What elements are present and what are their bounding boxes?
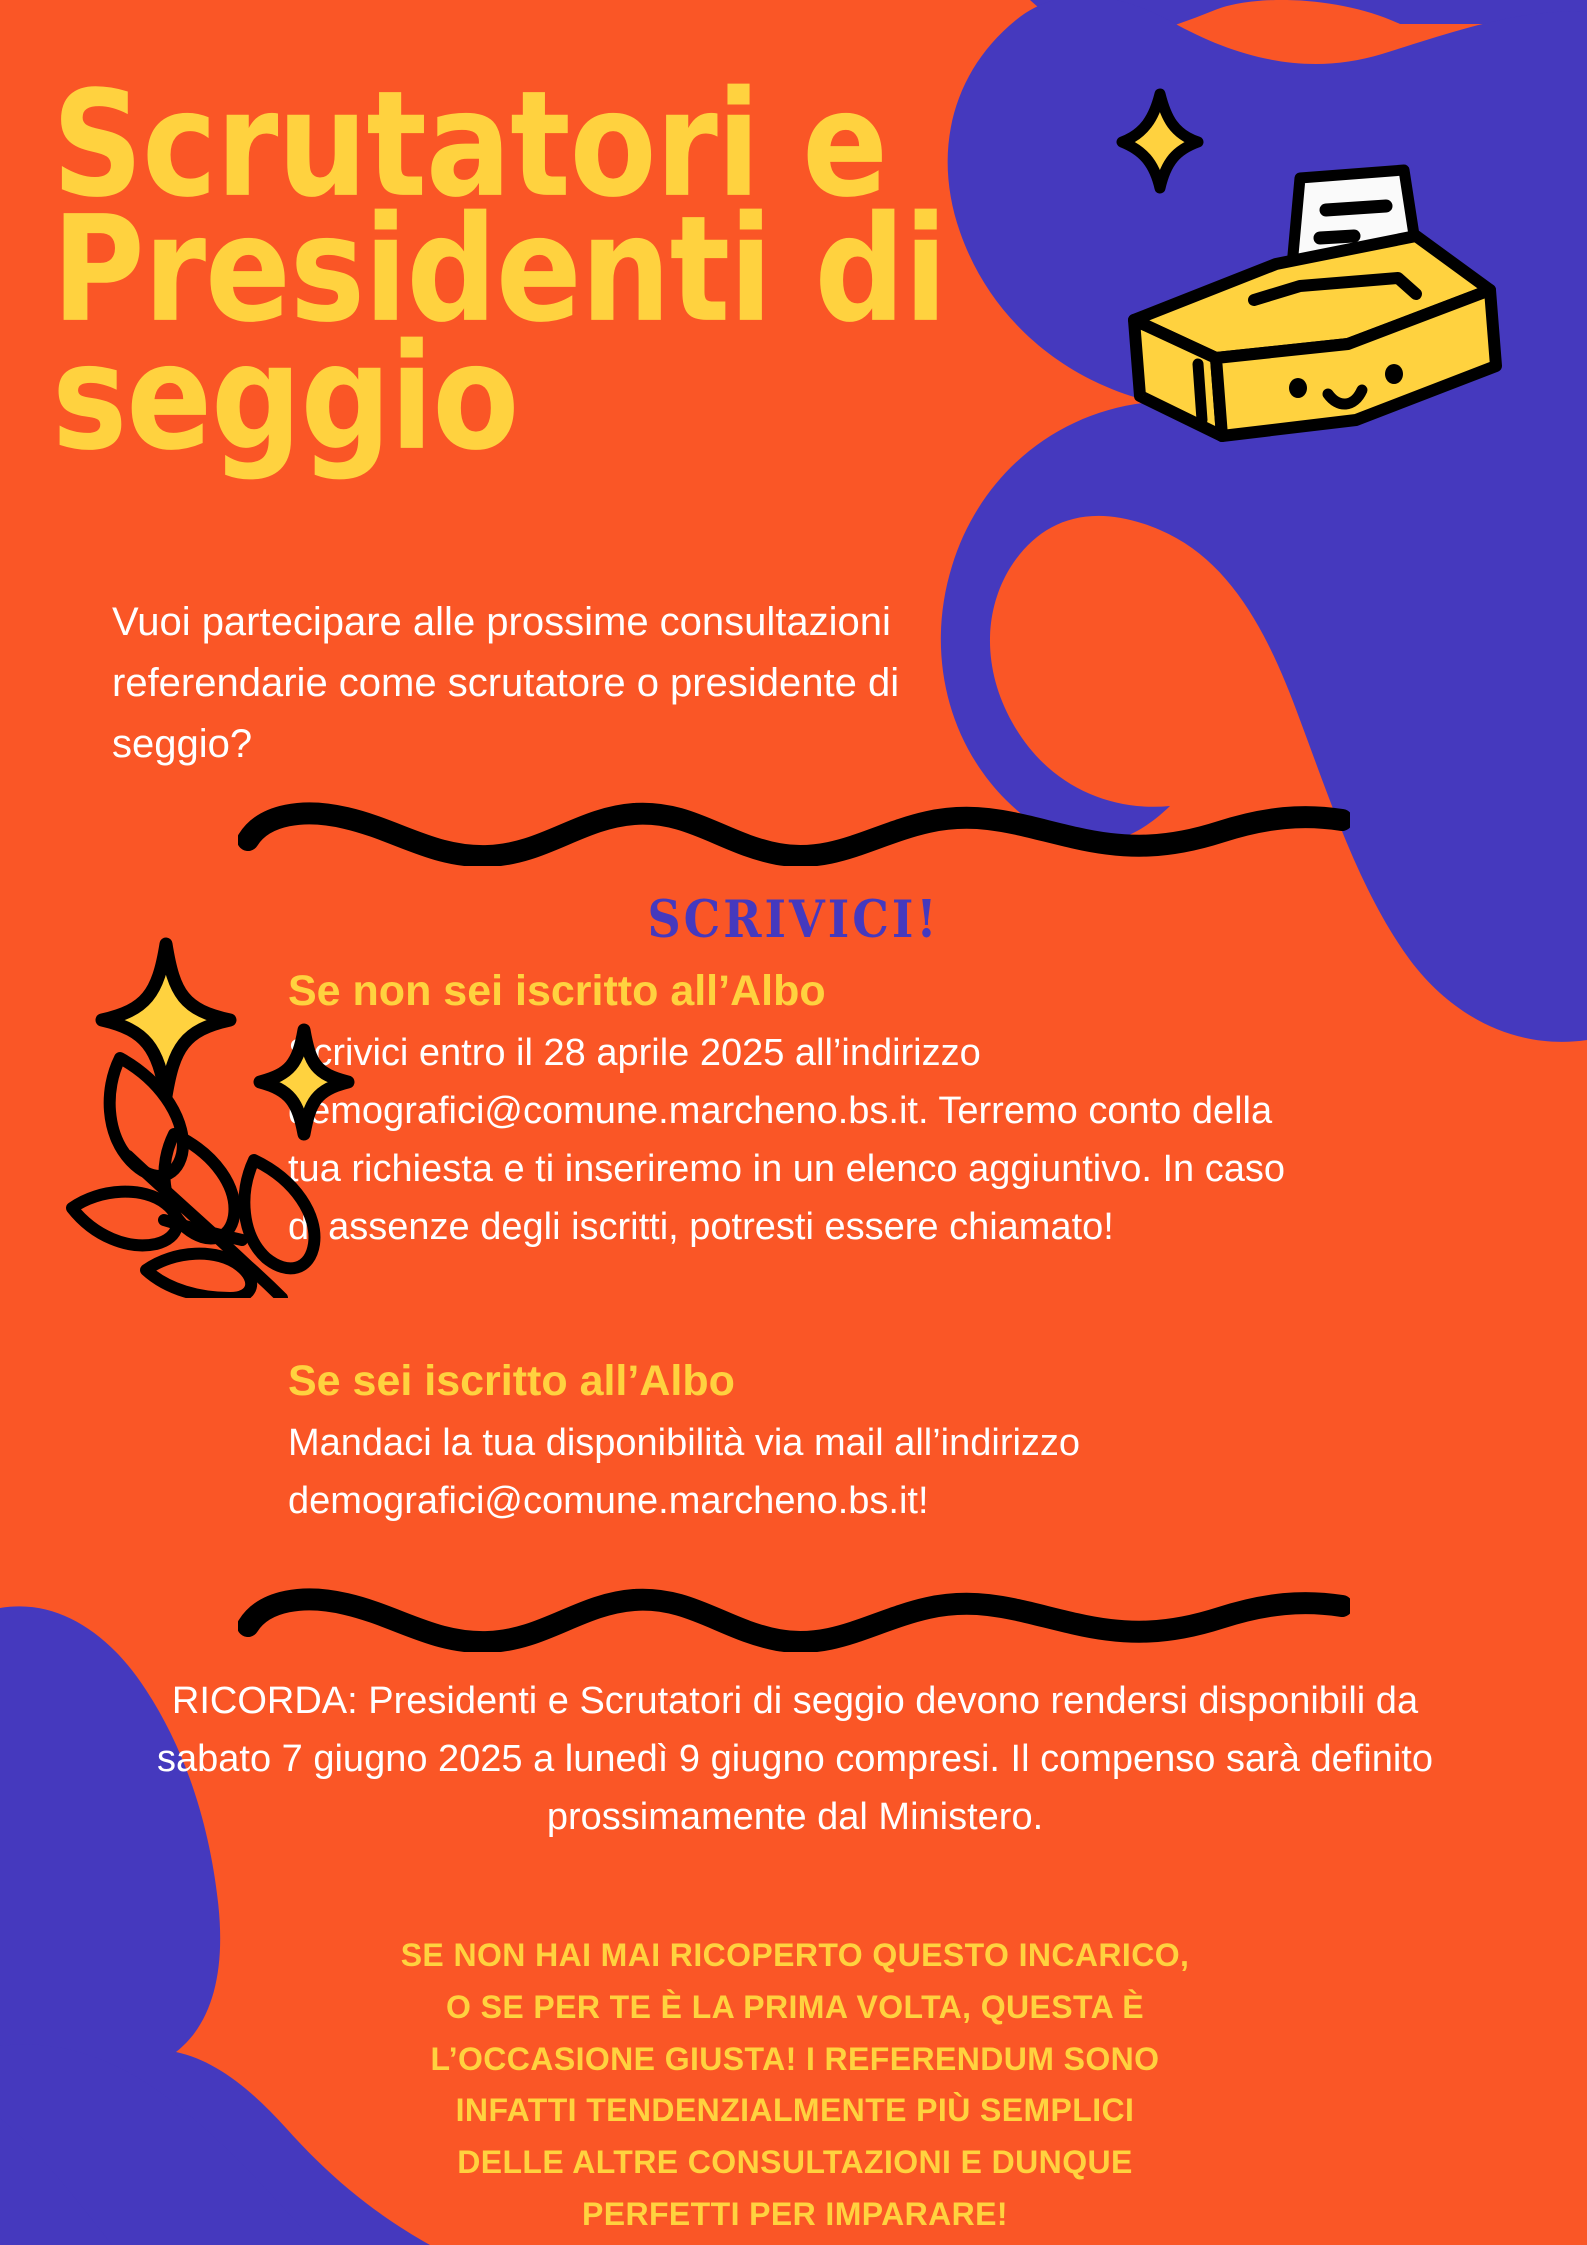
sparkle-leaf-decoration [58, 898, 368, 1298]
title-line-3: seggio [52, 331, 1092, 467]
sparkle-icon-large [102, 944, 230, 1096]
closing-line: L’OCCASIONE GIUSTA! I REFERENDUM SONO [190, 2034, 1400, 2086]
reminder-paragraph: RICORDA: Presidenti e Scrutatori di segg… [140, 1672, 1450, 1846]
section-body: Mandaci la tua disponibilità via mail al… [288, 1415, 1308, 1531]
poster-title: Scrutatori e Presidenti di seggio [52, 78, 1072, 446]
section-non-iscritto: Se non sei iscritto all’Albo Scrivici en… [288, 968, 1308, 1256]
section-heading: Se sei iscritto all’Albo [288, 1358, 1308, 1405]
closing-line: O SE PER TE È LA PRIMA VOLTA, QUESTA È [190, 1982, 1400, 2034]
purple-blob-shape-top-right [1030, 0, 1587, 37]
wave-divider-bottom-icon [238, 1578, 1350, 1652]
ballot-box-icon [1104, 58, 1564, 458]
section-iscritto: Se sei iscritto all’Albo Mandaci la tua … [288, 1358, 1308, 1531]
closing-line: INFATTI TENDENZIALMENTE PIÙ SEMPLICI [190, 2085, 1400, 2137]
closing-line: SE NON HAI MAI RICOPERTO QUESTO INCARICO… [190, 1930, 1400, 1982]
ballot-box-edge-line [1198, 364, 1202, 420]
sparkle-icon-small [260, 1030, 348, 1134]
closing-line: PERFETTI PER IMPARARE! [190, 2189, 1400, 2241]
section-body: Scrivici entro il 28 aprile 2025 all’ind… [288, 1025, 1308, 1256]
closing-block: SE NON HAI MAI RICOPERTO QUESTO INCARICO… [190, 1930, 1400, 2241]
four-point-star-icon [1122, 94, 1198, 188]
closing-line: DELLE ALTRE CONSULTAZIONI E DUNQUE [190, 2137, 1400, 2189]
poster-canvas: Scrutatori e Presidenti di seggio [0, 0, 1587, 2245]
section-heading: Se non sei iscritto all’Albo [288, 968, 1308, 1015]
wave-divider-top-icon [238, 792, 1350, 866]
intro-paragraph: Vuoi partecipare alle prossime consultaz… [112, 592, 1012, 774]
